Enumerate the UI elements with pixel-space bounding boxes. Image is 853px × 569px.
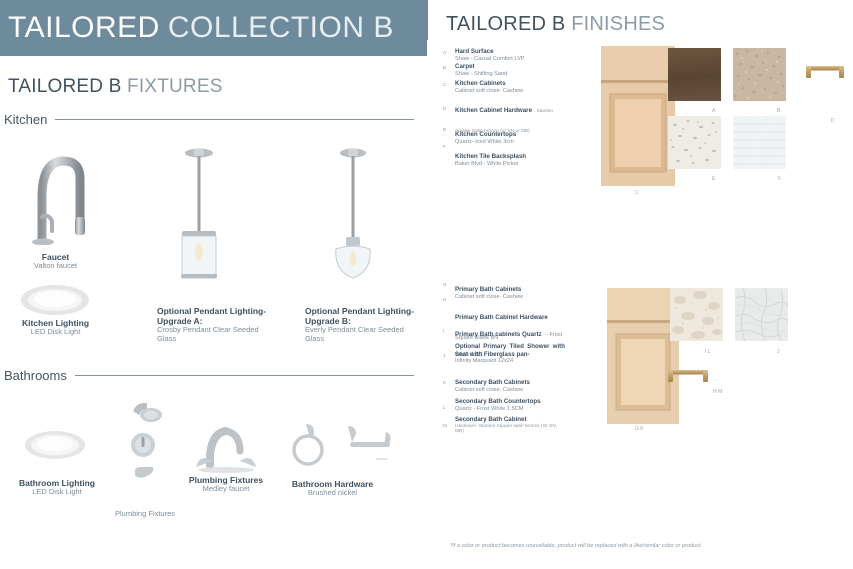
finish-name: Secondary Bath Cabinets [455,379,565,387]
swatch-label-h-m: H M [713,389,722,395]
finish-name: Primary Bath Cabinet Hardware [455,314,548,321]
collection-title-bold: TAILORED [0,11,160,45]
finish-letter: K [443,380,452,385]
swatch-hard-surface [668,48,721,101]
finish-item: E Kitchen Countertops Quartz- Iced White… [443,131,565,145]
finish-name: Kitchen Countertops [455,131,565,139]
finish-item: D Kitchen Cabinet Hardware Stanton Squar… [443,98,565,120]
caption-desc: LED Disk Light [8,328,103,337]
finish-desc: Infinity Marquant 12x24 [455,358,565,365]
caption-desc: Everly Pendant Clear Seeded Glass [305,326,415,344]
finish-name: Kitchen Tile Backsplash [455,153,565,161]
caption-faucet: Faucet Valton faucet [8,252,103,271]
finish-letter: J [443,353,452,358]
finish-desc: Shaw - Shifting Sand [455,71,565,78]
finish-desc: Baker Blvd - White Picket [455,161,565,168]
caption-pendant-b: Optional Pendant Lighting- Upgrade B: Ev… [305,306,415,344]
finish-item: F Kitchen Tile Backsplash Baker Blvd - W… [443,153,565,167]
finish-name: Carpet [455,63,565,71]
swatch-kitchen-countertop [668,116,721,169]
finish-item: J Optional Primary Tiled Shower with Sea… [443,343,565,373]
swatch-label-e: E [712,176,715,182]
fixtures-heading-bold: TAILORED B [8,76,122,97]
finish-letter: E [443,127,452,132]
finish-item: B Carpet Shaw - Shifting Sand [443,63,565,77]
swatch-label-a: A [712,108,715,114]
collection-title-light: COLLECTION B [160,11,394,45]
fixtures-heading-light: FIXTURES [127,76,223,97]
finish-item: G Primary Bath Cabinets Cabinet soft clo… [443,286,565,300]
section-rule [55,119,414,120]
caption-kitchen-lighting: Kitchen Lighting LED Disk Light [8,318,103,337]
caption-desc: Medley faucet [180,485,272,494]
bath-hardware-image [288,420,398,470]
finish-letter: A [443,50,452,55]
caption-desc: LED Disk Light [12,488,102,497]
finish-letter: G [443,282,452,287]
finish-item: H Primary Bath Cabinet Hardware Square S… [443,305,565,320]
finish-name: Secondary Bath Countertops [455,398,565,406]
finish-item: A Hard Surface Shaw - Casual Comfort LVP [443,48,565,61]
swatch-label-i-l: I L [705,349,711,355]
finish-name: Primary Bath Cabinets [455,286,565,294]
caption-title: Optional Pendant Lighting- Upgrade A: [157,306,267,326]
swatch-label-j: J [777,349,780,355]
finish-letter: M [443,423,452,428]
section-header-bathrooms: Bathrooms [4,368,414,383]
lav-faucet-image [190,425,262,473]
finish-board-page: TAILORED COLLECTION B TAILORED B FIXTURE… [0,0,853,569]
finishes-heading-bold: TAILORED B [446,13,565,35]
faucet-image [22,145,88,245]
kitchen-cabinet-door-swatch [601,46,675,186]
caption-desc: Valton faucet [8,262,103,271]
footnote-disclaimer: *If a color or product becomes unavailab… [450,543,830,549]
finish-desc: Quartz- Iced White 3cm [455,139,565,146]
finish-letter: C [443,82,452,87]
swatch-bath-countertop-i [670,288,723,341]
finish-name: Kitchen Cabinet Hardware [455,107,532,114]
finish-item: C Kitchen Cabinets Cabinet soft close- C… [443,80,565,94]
swatch-bath-hardware [662,363,714,389]
finish-item: L Secondary Bath Countertops Quartz - Fr… [443,398,565,412]
caption-pendant-a: Optional Pendant Lighting- Upgrade A: Cr… [157,306,267,344]
pendant-a-image [168,145,230,285]
bath-disk-light-image [24,428,86,462]
caption-bathroom-hardware: Bathroom Hardware Brushed nickel [280,479,385,498]
section-rule [75,375,414,376]
finish-letter: H [443,297,452,302]
finish-desc: Quartz - Frost White 1.5CM [455,406,565,413]
caption-desc: Crosby Pendant Clear Seeded Glass [157,326,267,344]
swatch-label-g-k: G K [635,426,644,432]
swatch-label-c: C [635,190,639,196]
finish-desc: Cabinet soft close- Cashew [455,294,565,301]
shower-trim-image [115,395,175,485]
finishes-heading-light: FINISHES [571,13,665,35]
finish-desc: Cabinet soft close- Cashew [455,88,565,95]
finish-name: Optional Primary Tiled Shower with Seat … [455,343,565,358]
fixtures-heading: TAILORED B FIXTURES [8,76,223,98]
section-label-kitchen: Kitchen [4,112,55,127]
swatch-kitchen-hardware [801,60,849,84]
finishes-heading: TAILORED B FINISHES [446,13,665,36]
swatch-tile-shower-j [735,288,788,341]
swatch-kitchen-backsplash [733,116,786,169]
caption-desc: Brushed nickel [280,489,385,498]
finish-item: I Primary Bath cabinets Quartz - Frost W… [443,322,565,337]
collection-title-bar: TAILORED COLLECTION B [0,0,427,56]
finish-desc: Hardware- Stanton Square satin bronze (O… [455,424,565,436]
swatch-label-d: D [831,118,835,124]
swatch-label-f: F [778,176,781,182]
caption-title: Plumbing Fixtures [100,510,190,519]
left-column: TAILORED COLLECTION B TAILORED B FIXTURE… [0,0,427,569]
finish-letter: D [443,106,452,111]
finish-item: M Secondary Bath Cabinet Hardware- Stant… [443,416,565,432]
finish-letter: B [443,65,452,70]
caption-bathroom-lighting: Bathroom Lighting LED Disk Light [12,478,102,497]
caption-plumbing-fixtures-faucet: Plumbing Fixtures Medley faucet [180,475,272,494]
finish-desc: Shaw - Casual Comfort LVP [455,56,565,63]
caption-title: Optional Pendant Lighting- Upgrade B: [305,306,415,326]
finish-letter: I [443,328,452,333]
finish-name: Hard Surface [455,48,565,56]
finish-desc: Cabinet soft close- Cashew [455,387,565,394]
finishes-list-bottom: G Primary Bath Cabinets Cabinet soft clo… [443,286,565,434]
disk-light-image [20,282,90,318]
finish-name: Primary Bath cabinets Quartz [455,331,542,338]
swatch-carpet [733,48,786,101]
section-label-bathrooms: Bathrooms [4,368,75,383]
caption-plumbing-fixtures-shower: Plumbing Fixtures [100,510,190,519]
swatch-label-b: B [777,108,780,114]
finishes-list-top: A Hard Surface Shaw - Casual Comfort LVP… [443,48,565,169]
bath-cabinet-door-swatch [607,288,679,424]
finish-letter: F [443,144,452,149]
finish-name: Kitchen Cabinets [455,80,565,88]
finish-item: K Secondary Bath Cabinets Cabinet soft c… [443,379,565,393]
column-divider [427,0,428,40]
finish-letter: L [443,405,452,410]
section-header-kitchen: Kitchen [4,112,414,127]
finish-name: Secondary Bath Cabinet [455,416,565,424]
right-column: TAILORED B FINISHES A Hard Surface Shaw … [427,0,853,569]
pendant-b-image [322,145,384,285]
